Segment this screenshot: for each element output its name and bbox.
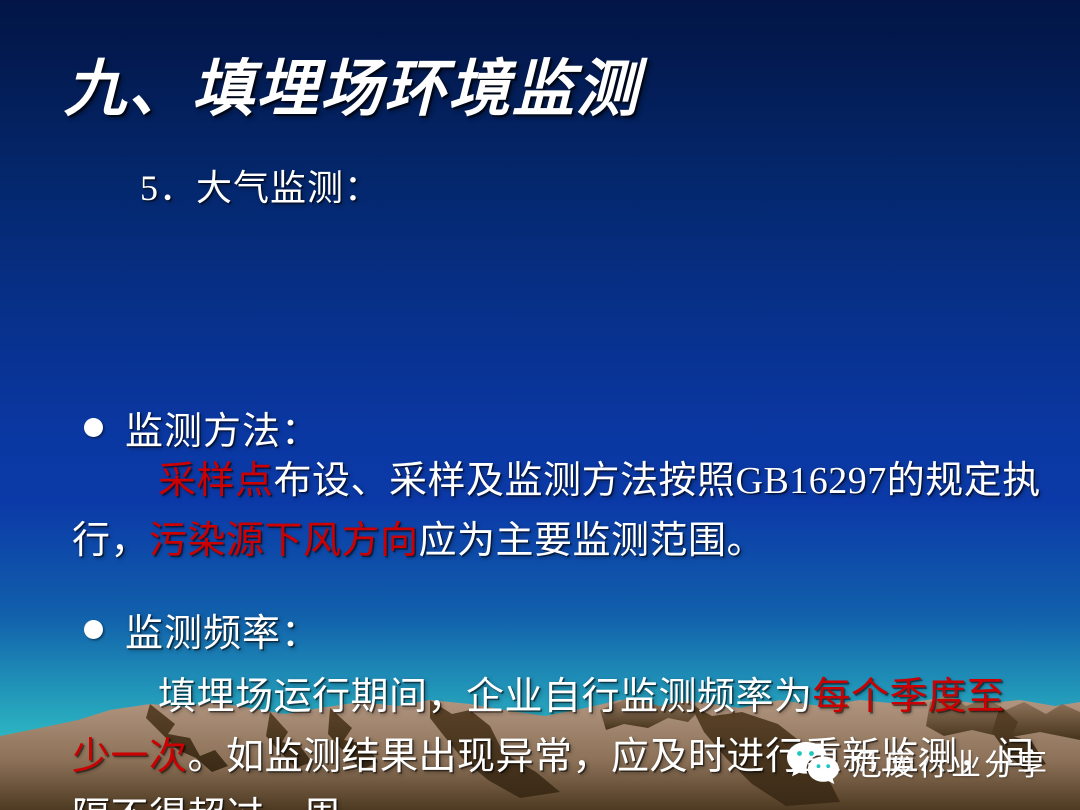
- bullet-item-monitoring-frequency: 监测频率：: [84, 602, 320, 657]
- watermark-text: 危废行业分享: [852, 740, 1050, 784]
- paragraph-monitoring-method: 采样点布设、采样及监测方法按照GB16297的规定执行，污染源下风方向应为主要监…: [72, 462, 1052, 582]
- presentation-slide: 九、填埋场环境监测 5．大气监测： 监测方法： 采样点布设、采样及监测方法按照G…: [0, 0, 1080, 810]
- paragraph-line: 采样点布设、采样及监测方法按照GB16297的规定执: [72, 462, 1052, 500]
- bullet-label: 监测方法：: [125, 400, 320, 455]
- paragraph-line: 填埋场运行期间，企业自行监测频率为每个季度至: [72, 678, 1052, 716]
- highlighted-text: 污染源下风方向: [149, 520, 419, 562]
- bullet-item-monitoring-method: 监测方法：: [84, 400, 320, 455]
- slide-title: 九、填埋场环境监测: [64, 38, 640, 128]
- highlighted-text: 每个季度至: [813, 676, 1006, 718]
- body-text: 填埋场运行期间，企业自行监测频率为: [158, 676, 813, 718]
- bullet-dot-icon: [84, 418, 103, 437]
- paragraph-line: 行，污染源下风方向应为主要监测范围。: [72, 522, 1052, 560]
- body-text: 隔不得超过一周。: [72, 796, 380, 810]
- bullet-label: 监测频率：: [125, 602, 320, 657]
- body-text: 布设、采样及监测方法按照GB16297的规定执: [274, 460, 1041, 502]
- bullet-dot-icon: [84, 620, 103, 639]
- body-text: 应为主要监测范围。: [419, 520, 766, 562]
- section-number-heading: 5．大气监测：: [140, 170, 381, 206]
- highlighted-text: 采样点: [158, 460, 274, 502]
- wechat-icon: [786, 740, 840, 784]
- body-text: 行，: [72, 520, 149, 562]
- paragraph-line: 隔不得超过一周。: [72, 798, 1052, 810]
- highlighted-text: 少一次: [72, 736, 188, 778]
- wechat-watermark: 危废行业分享: [786, 740, 1050, 784]
